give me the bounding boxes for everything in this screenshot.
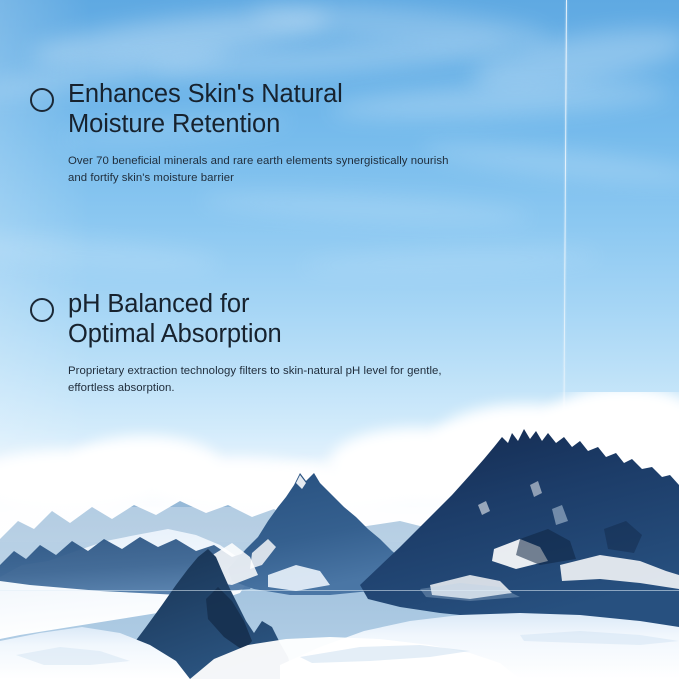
feature-heading: pH Balanced for Optimal Absorption [68,290,282,349]
feature-heading-row: pH Balanced for Optimal Absorption [30,290,559,349]
feature-item-ph-balanced: pH Balanced for Optimal Absorption Propr… [30,290,559,396]
circle-outline-icon [30,88,54,112]
feature-item-moisture-retention: Enhances Skin's Natural Moisture Retenti… [30,80,559,186]
feature-heading-row: Enhances Skin's Natural Moisture Retenti… [30,80,559,139]
feature-body-text: Proprietary extraction technology filter… [68,363,528,396]
skincare-benefits-panel: Enhances Skin's Natural Moisture Retenti… [0,0,679,679]
feature-heading: Enhances Skin's Natural Moisture Retenti… [68,80,343,139]
circle-outline-icon [30,298,54,322]
feature-list: Enhances Skin's Natural Moisture Retenti… [0,0,679,679]
feature-body-text: Over 70 beneficial minerals and rare ear… [68,153,538,186]
